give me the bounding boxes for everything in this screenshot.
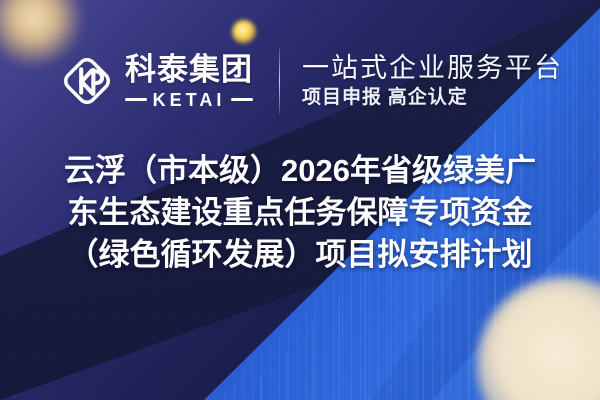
tagline-main: 一站式企业服务平台: [302, 54, 563, 82]
ketai-diamond-kp-logo-icon: [58, 52, 116, 110]
company-logo: 科泰集团 KETAI: [58, 52, 253, 110]
logo-english-name: KETAI: [153, 91, 226, 109]
page-title-line-3: （绿色循环发展）项目拟安排计划: [18, 234, 582, 276]
page-title-line-2: 东生态建设重点任务保障专项资金: [18, 192, 582, 234]
page-title-line-1: 云浮（市本级）2026年省级绿美广: [18, 150, 582, 192]
logo-dash-right: [231, 98, 253, 101]
promo-banner: 科泰集团 KETAI 一站式企业服务平台 项目申报 高企认定 云浮（市本级）20…: [0, 0, 600, 400]
logo-dash-left: [125, 98, 147, 101]
header-vertical-divider: [279, 48, 280, 114]
banner-header: 科泰集团 KETAI 一站式企业服务平台 项目申报 高企认定: [0, 40, 600, 122]
logo-chinese-name: 科泰集团: [125, 54, 253, 85]
tagline-sub: 项目申报 高企认定: [302, 88, 563, 108]
header-tagline: 一站式企业服务平台 项目申报 高企认定: [302, 54, 563, 107]
logo-wordmark: 科泰集团 KETAI: [125, 54, 253, 109]
page-title: 云浮（市本级）2026年省级绿美广 东生态建设重点任务保障专项资金 （绿色循环发…: [0, 150, 600, 276]
logo-english-row: KETAI: [125, 91, 253, 109]
